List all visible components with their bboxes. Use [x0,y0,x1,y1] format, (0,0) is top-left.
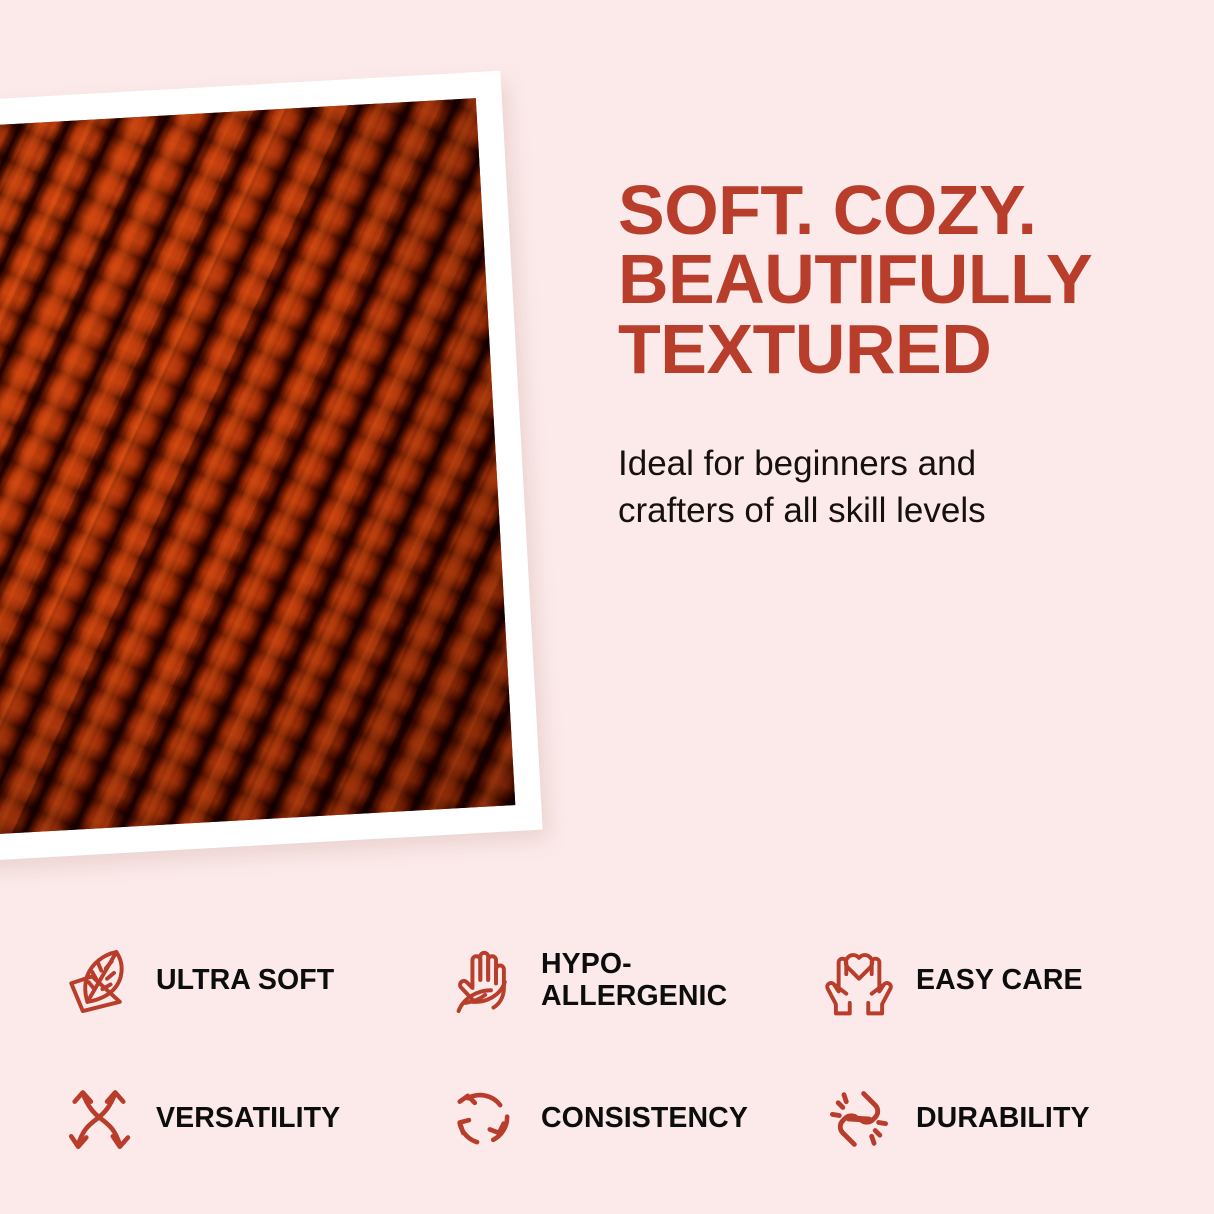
feature-item-easy-care: Easy Care [822,944,1168,1018]
chain-link-icon [822,1082,896,1156]
feather-icon [62,944,136,1018]
feature-label-versatility: Versatility [156,1103,340,1135]
hand-leaf-icon [447,944,521,1018]
feature-label-ultra-soft: Ultra Soft [156,965,334,997]
subtitle-line-1: Ideal for beginners and [618,440,1178,487]
headline-line-2: Beautifully [618,245,1178,314]
yarn-photo [0,98,515,838]
headline-line-1: Soft. Cozy. [618,176,1178,245]
feature-item-consistency: Consistency [447,1082,822,1156]
feature-item-ultra-soft: Ultra Soft [62,944,447,1018]
subtitle-line-2: crafters of all skill levels [618,487,1178,534]
feature-item-versatility: Versatility [62,1082,447,1156]
feature-grid: Ultra Soft Hypo- Allergenic [62,912,1168,1188]
feature-label-durability: Durability [916,1103,1090,1135]
subtitle: Ideal for beginners and crafters of all … [618,440,1178,535]
yarn-photo-frame [0,71,543,866]
feature-label-easy-care: Easy Care [916,965,1083,997]
feature-item-hypo-allergenic: Hypo- Allergenic [447,944,822,1018]
yarn-vignette [0,98,515,838]
hands-heart-icon [822,944,896,1018]
page-title: Soft. Cozy. Beautifully Textured [618,176,1178,384]
feature-label-hypo-allergenic: Hypo- Allergenic [541,949,727,1013]
shuffle-arrows-icon [62,1082,136,1156]
feature-item-durability: Durability [822,1082,1168,1156]
copy-block: Soft. Cozy. Beautifully Textured Ideal f… [618,176,1178,534]
recycle-arrows-icon [447,1082,521,1156]
feature-label-consistency: Consistency [541,1103,748,1135]
promo-banner: Soft. Cozy. Beautifully Textured Ideal f… [0,0,1214,1214]
headline-line-3: Textured [618,315,1178,384]
